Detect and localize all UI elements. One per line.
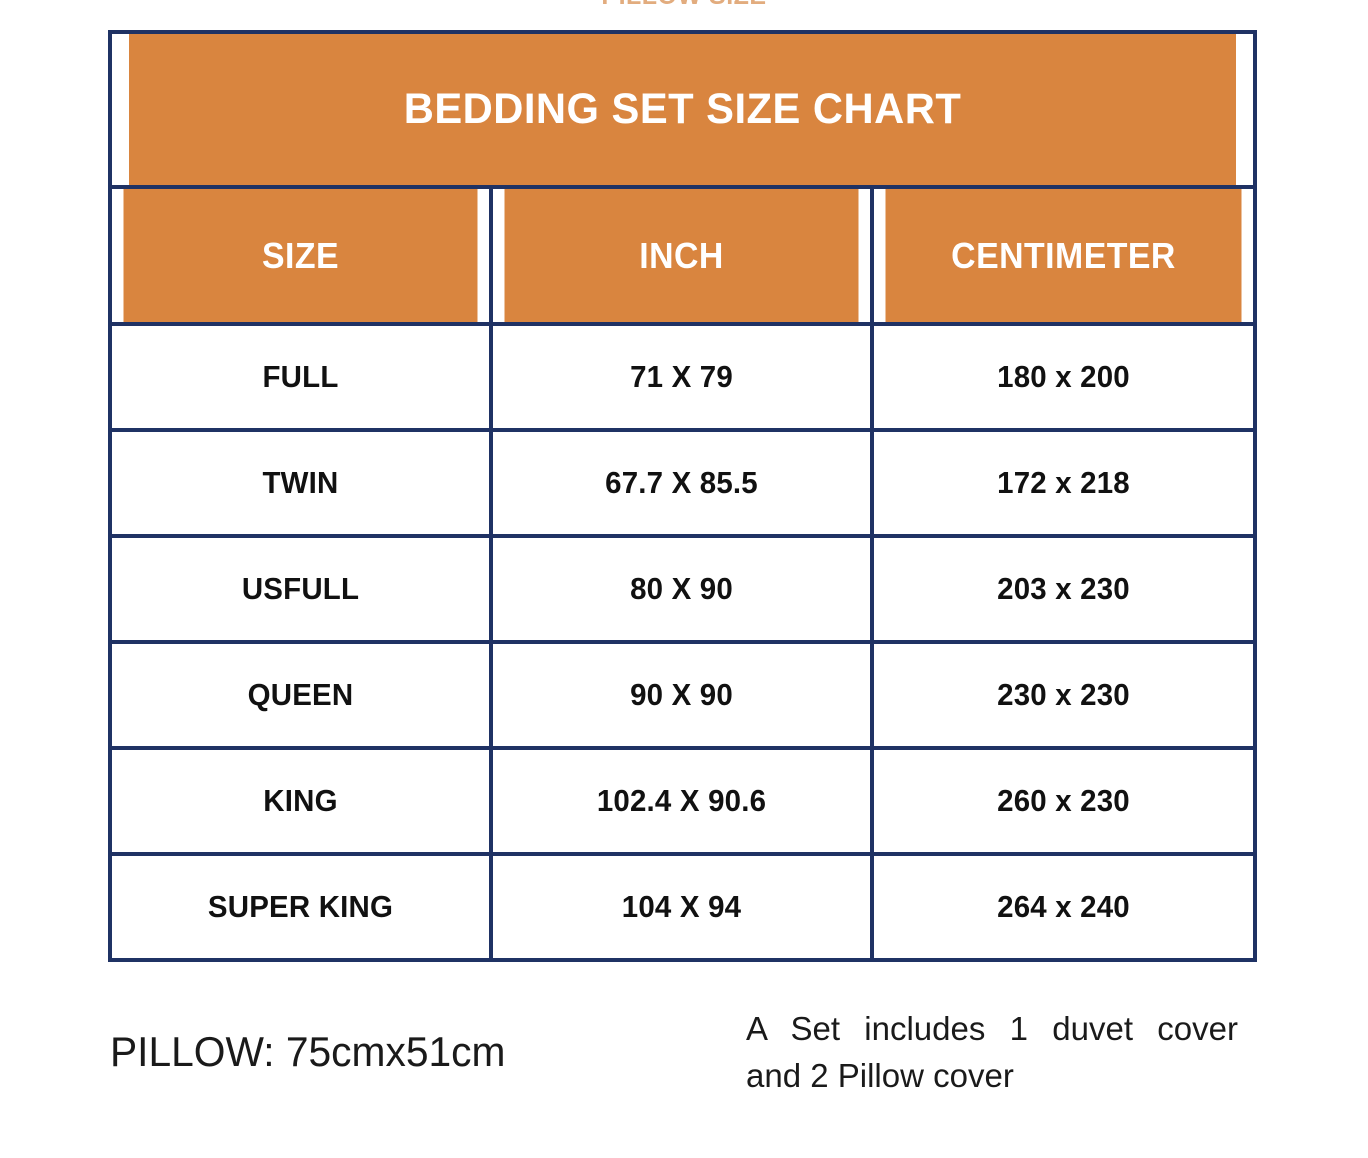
clipped-top-heading: PILLOW SIZE [0,0,1368,4]
cell-size: QUEEN [120,642,482,748]
cell-inch: 71 X 79 [501,324,863,430]
cell-inch: 67.7 X 85.5 [501,430,863,536]
table-row: KING 102.4 X 90.6 260 x 230 [110,748,1255,854]
chart-title: BEDDING SET SIZE CHART [127,32,1238,187]
table-row: FULL 71 X 79 180 x 200 [110,324,1255,430]
table-header-row: SIZE INCH CENTIMETER [110,187,1255,324]
cell-size: USFULL [120,536,482,642]
cell-size: KING [120,748,482,854]
cell-centimeter: 180 x 200 [882,324,1246,430]
cell-size: SUPER KING [120,854,482,960]
table-title-row: BEDDING SET SIZE CHART [110,32,1255,187]
pillow-size-note: PILLOW: 75cmx51cm [110,1028,505,1076]
cell-size: FULL [120,324,482,430]
size-chart-page: PILLOW SIZE BEDDING SET SIZE CHART SIZE … [0,0,1368,1158]
cell-centimeter: 260 x 230 [882,748,1246,854]
column-header-inch: INCH [502,187,860,324]
cell-size: TWIN [120,430,482,536]
column-header-size: SIZE [121,187,479,324]
cell-inch: 80 X 90 [501,536,863,642]
cell-inch: 104 X 94 [501,854,863,960]
cell-inch: 90 X 90 [501,642,863,748]
cell-inch: 102.4 X 90.6 [501,748,863,854]
set-contents-note-line-2: and 2 Pillow cover [746,1053,1238,1100]
cell-centimeter: 203 x 230 [882,536,1246,642]
set-contents-note-line-1: A Set includes 1 duvet cover [746,1006,1238,1053]
cell-centimeter: 264 x 240 [882,854,1246,960]
table-row: TWIN 67.7 X 85.5 172 x 218 [110,430,1255,536]
cell-centimeter: 230 x 230 [882,642,1246,748]
table-row: SUPER KING 104 X 94 264 x 240 [110,854,1255,960]
column-header-centimeter: CENTIMETER [883,187,1243,324]
table-row: QUEEN 90 X 90 230 x 230 [110,642,1255,748]
set-contents-note: A Set includes 1 duvet cover and 2 Pillo… [746,1006,1238,1100]
table-row: USFULL 80 X 90 203 x 230 [110,536,1255,642]
cell-centimeter: 172 x 218 [882,430,1246,536]
bedding-set-size-chart-table: BEDDING SET SIZE CHART SIZE INCH CENTIME… [108,30,1257,962]
